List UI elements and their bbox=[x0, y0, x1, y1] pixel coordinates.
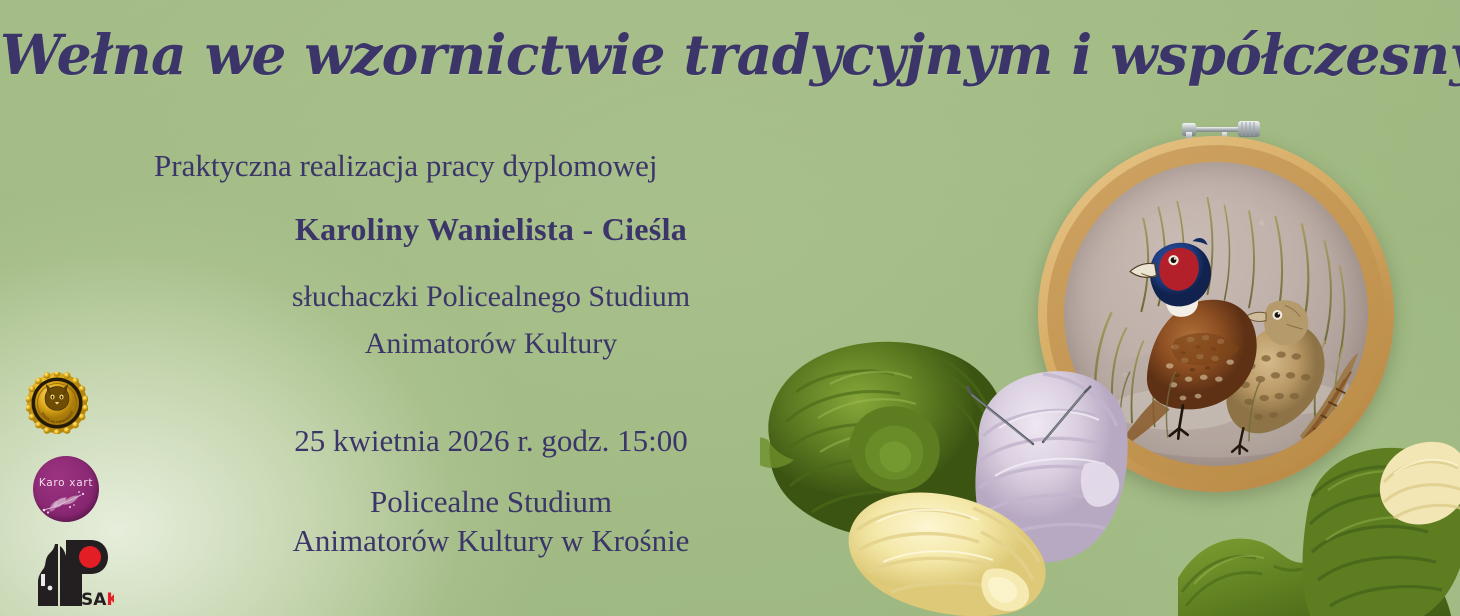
psak-sak-text: SAK bbox=[81, 590, 114, 610]
male-ear-tuft bbox=[1192, 238, 1207, 245]
male-beak bbox=[1130, 263, 1156, 277]
author-role-line-1: słuchaczki Policealnego Studium bbox=[96, 278, 886, 316]
author-name: Karoliny Wanielista - Cieśla bbox=[96, 211, 886, 249]
logo-column: MADE IN HANDMADE Karo xart bbox=[26, 372, 138, 610]
leaf-branch-icon bbox=[37, 486, 95, 516]
wool-roll-cream bbox=[845, 478, 1065, 616]
psak-logo: SAK bbox=[28, 536, 114, 610]
poster-subtitle: Praktyczna realizacja pracy dyplomowej bbox=[96, 148, 886, 185]
psak-red-dot bbox=[79, 546, 101, 568]
event-poster: Wełna we wzornictwie tradycyjnym i współ… bbox=[0, 0, 1460, 616]
wool-roll-cream-bottom-right bbox=[1378, 438, 1460, 528]
lynx-head-icon bbox=[45, 385, 69, 410]
lynx-seal-logo: MADE IN HANDMADE bbox=[26, 372, 88, 434]
karo-xart-logo: Karo xart bbox=[33, 456, 99, 522]
page-title: Wełna we wzornictwie tradycyjnym i współ… bbox=[0, 26, 1460, 84]
